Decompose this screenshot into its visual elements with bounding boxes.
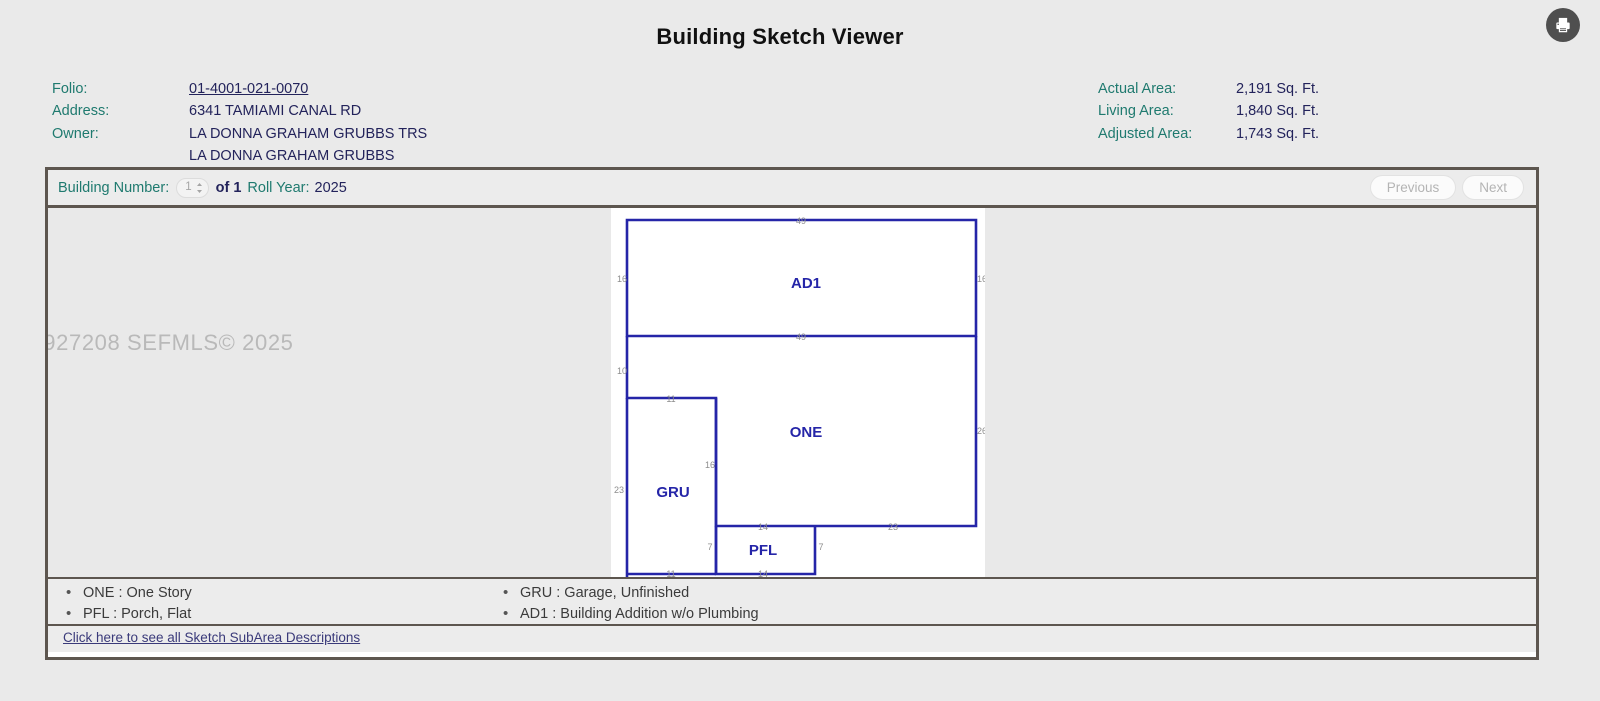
owner-label: Owner: bbox=[52, 123, 189, 145]
living-area-label: Living Area: bbox=[1098, 100, 1236, 122]
room-label-one: ONE bbox=[790, 424, 823, 441]
owner-value-1: LA DONNA GRAHAM GRUBBS TRS bbox=[189, 123, 427, 145]
sketch-drawing-area: A11927208 SEFMLS© 2025 bbox=[48, 208, 1536, 577]
info-row-actual-area: Actual Area: 2,191 Sq. Ft. bbox=[1098, 78, 1319, 100]
info-row-adjusted-area: Adjusted Area: 1,743 Sq. Ft. bbox=[1098, 123, 1319, 145]
dim-label: 16 bbox=[617, 274, 627, 284]
folio-link[interactable]: 01-4001-021-0070 bbox=[189, 81, 308, 97]
address-value: 6341 TAMIAMI CANAL RD bbox=[189, 100, 361, 122]
info-row-owner-2: LA DONNA GRAHAM GRUBBS bbox=[52, 145, 427, 167]
dim-label: 16 bbox=[705, 460, 715, 470]
descriptions-bar: Click here to see all Sketch SubArea Des… bbox=[48, 624, 1536, 652]
actual-area-value: 2,191 Sq. Ft. bbox=[1236, 78, 1319, 100]
roll-year-label: Roll Year: bbox=[247, 180, 309, 196]
building-number-value: 1 bbox=[185, 182, 191, 194]
info-row-living-area: Living Area: 1,840 Sq. Ft. bbox=[1098, 100, 1319, 122]
adjusted-area-value: 1,743 Sq. Ft. bbox=[1236, 123, 1319, 145]
dim-label: 23 bbox=[888, 522, 898, 532]
dim-label: 7 bbox=[818, 542, 823, 552]
navigation-buttons: Previous Next bbox=[1370, 175, 1526, 200]
sketch-subarea-descriptions-link[interactable]: Click here to see all Sketch SubArea Des… bbox=[63, 630, 360, 645]
next-button[interactable]: Next bbox=[1462, 175, 1524, 200]
dim-label: 26 bbox=[977, 426, 985, 436]
actual-area-label: Actual Area: bbox=[1098, 78, 1236, 100]
room-label-ad1: AD1 bbox=[791, 275, 821, 292]
property-info-right: Actual Area: 2,191 Sq. Ft. Living Area: … bbox=[1098, 78, 1319, 145]
legend-item: GRU : Garage, Unfinished bbox=[503, 583, 759, 604]
dim-label: 14 bbox=[758, 522, 768, 532]
sketch-canvas: 49 16 16 49 10 11 16 23 26 14 23 7 7 11 … bbox=[611, 208, 985, 577]
legend-item: AD1 : Building Addition w/o Plumbing bbox=[503, 604, 759, 625]
room-label-pfl: PFL bbox=[749, 542, 777, 559]
sketch-legend: ONE : One Story PFL : Porch, Flat GRU : … bbox=[48, 577, 1536, 624]
dim-label: 11 bbox=[666, 569, 675, 577]
building-number-stepper[interactable]: 1 bbox=[176, 178, 208, 198]
adjusted-area-label: Adjusted Area: bbox=[1098, 123, 1236, 145]
dim-label: 16 bbox=[977, 274, 985, 284]
legend-item: PFL : Porch, Flat bbox=[66, 604, 192, 625]
building-number-label: Building Number: bbox=[58, 180, 169, 196]
living-area-value: 1,840 Sq. Ft. bbox=[1236, 100, 1319, 122]
legend-column-2: GRU : Garage, Unfinished AD1 : Building … bbox=[503, 583, 759, 625]
dim-label: 23 bbox=[614, 485, 624, 495]
room-label-gru: GRU bbox=[656, 484, 689, 501]
info-row-folio: Folio: 01-4001-021-0070 bbox=[52, 78, 427, 100]
dim-label: 14 bbox=[758, 569, 768, 577]
info-row-owner: Owner: LA DONNA GRAHAM GRUBBS TRS bbox=[52, 123, 427, 145]
page-title: Building Sketch Viewer bbox=[0, 24, 1560, 50]
mls-watermark: A11927208 SEFMLS© 2025 bbox=[48, 330, 294, 356]
info-row-address: Address: 6341 TAMIAMI CANAL RD bbox=[52, 100, 427, 122]
owner-label-blank bbox=[52, 145, 189, 167]
sketch-viewer-panel: Building Number: 1 of 1 Roll Year: 2025 … bbox=[45, 167, 1539, 660]
dim-label: 49 bbox=[796, 216, 806, 226]
legend-item: ONE : One Story bbox=[66, 583, 192, 604]
sketch-dimension-labels: 49 16 16 49 10 11 16 23 26 14 23 7 7 11 … bbox=[614, 216, 985, 577]
building-count-text: of 1 bbox=[216, 180, 242, 196]
legend-column-1: ONE : One Story PFL : Porch, Flat bbox=[66, 583, 192, 625]
dim-label: 10 bbox=[617, 366, 627, 376]
dim-label: 49 bbox=[796, 332, 806, 342]
address-label: Address: bbox=[52, 100, 189, 122]
dim-label: 7 bbox=[707, 542, 712, 552]
sketch-toolbar: Building Number: 1 of 1 Roll Year: 2025 … bbox=[48, 170, 1536, 208]
folio-label: Folio: bbox=[52, 78, 189, 100]
roll-year-value: 2025 bbox=[315, 180, 347, 196]
chevron-updown-icon bbox=[196, 182, 203, 194]
dim-label: 11 bbox=[666, 394, 675, 404]
previous-button[interactable]: Previous bbox=[1370, 175, 1457, 200]
owner-value-2: LA DONNA GRAHAM GRUBBS bbox=[189, 145, 394, 167]
folio-value: 01-4001-021-0070 bbox=[189, 78, 308, 100]
sketch-room-labels: AD1 ONE GRU PFL bbox=[656, 275, 822, 559]
property-info-left: Folio: 01-4001-021-0070 Address: 6341 TA… bbox=[52, 78, 427, 167]
